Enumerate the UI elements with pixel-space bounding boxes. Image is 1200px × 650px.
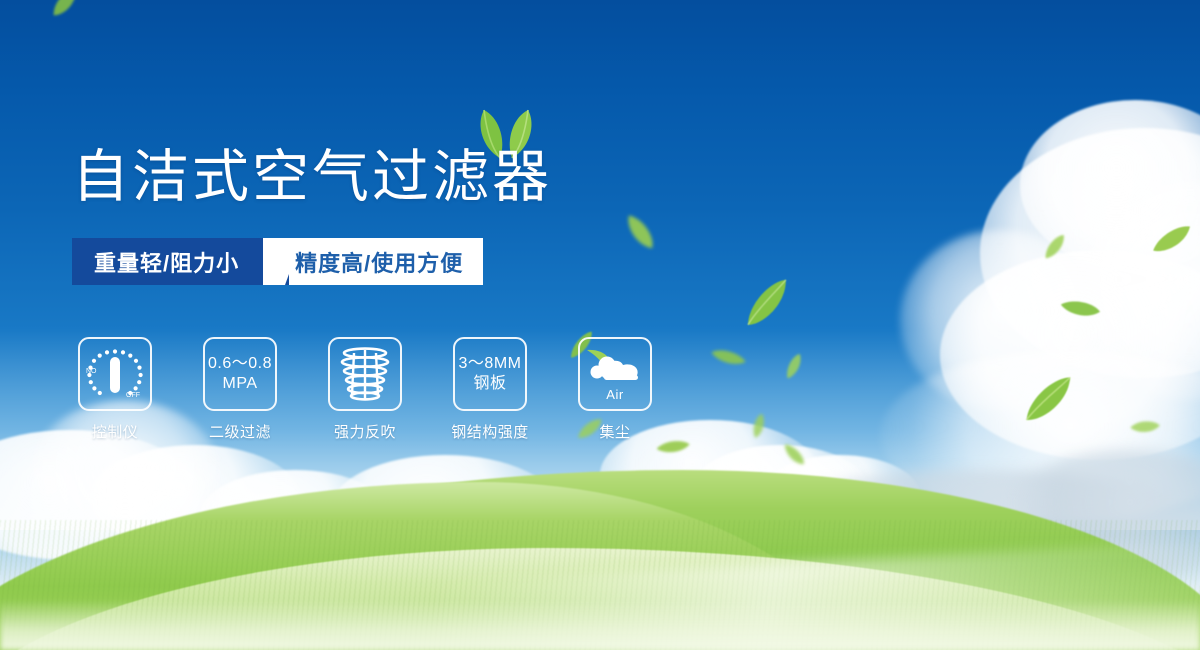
- feature-icon-box: NO OFF: [78, 337, 152, 411]
- gauge-label-off: OFF: [126, 392, 140, 399]
- pressure-value-line2: MPA: [223, 374, 258, 394]
- feature-icon-box: 3～8MM 钢板: [453, 337, 527, 411]
- feature-item-two-stage-filter[interactable]: 0.6～0.8 MPA 二级过滤: [203, 337, 277, 442]
- feature-label: 集尘: [599, 421, 630, 442]
- subtitle-right: 精度高/使用方便: [289, 238, 483, 285]
- feature-item-dust-collection[interactable]: Air 集尘: [578, 337, 652, 442]
- feature-list: NO OFF 控制仪 0.6～0.8 MPA 二级过滤: [78, 337, 652, 442]
- pressure-value-line1: 0.6～0.8: [208, 354, 272, 374]
- page-title: 自洁式空气过滤器: [72, 142, 552, 212]
- subtitle-left: 重量轻/阻力小: [72, 238, 263, 285]
- feature-item-strong-blowback[interactable]: 强力反吹: [328, 337, 402, 442]
- feature-label: 强力反吹: [334, 421, 396, 442]
- feature-icon-box: [328, 337, 402, 411]
- feature-label: 控制仪: [92, 421, 139, 442]
- feature-item-control-gauge[interactable]: NO OFF 控制仪: [78, 337, 152, 442]
- dust-cloud-icon: [586, 348, 644, 386]
- dust-air-label: Air: [606, 387, 623, 402]
- steel-value-line2: 钢板: [473, 374, 506, 394]
- feature-label: 钢结构强度: [451, 421, 529, 442]
- gauge-label-no: NO: [86, 368, 97, 375]
- filter-cartridge-icon: [338, 346, 392, 402]
- subtitle-bar: 重量轻/阻力小 精度高/使用方便: [72, 238, 483, 285]
- gauge-icon: NO OFF: [84, 346, 146, 402]
- feature-label: 二级过滤: [209, 421, 271, 442]
- feature-icon-box: 0.6～0.8 MPA: [203, 337, 277, 411]
- subtitle-divider-slash: [263, 238, 289, 285]
- hero-banner: 自洁式空气过滤器 重量轻/阻力小 精度高/使用方便: [0, 0, 1200, 650]
- steel-value-line1: 3～8MM: [459, 354, 522, 374]
- feature-item-steel-strength[interactable]: 3～8MM 钢板 钢结构强度: [453, 337, 527, 442]
- feature-icon-box: Air: [578, 337, 652, 411]
